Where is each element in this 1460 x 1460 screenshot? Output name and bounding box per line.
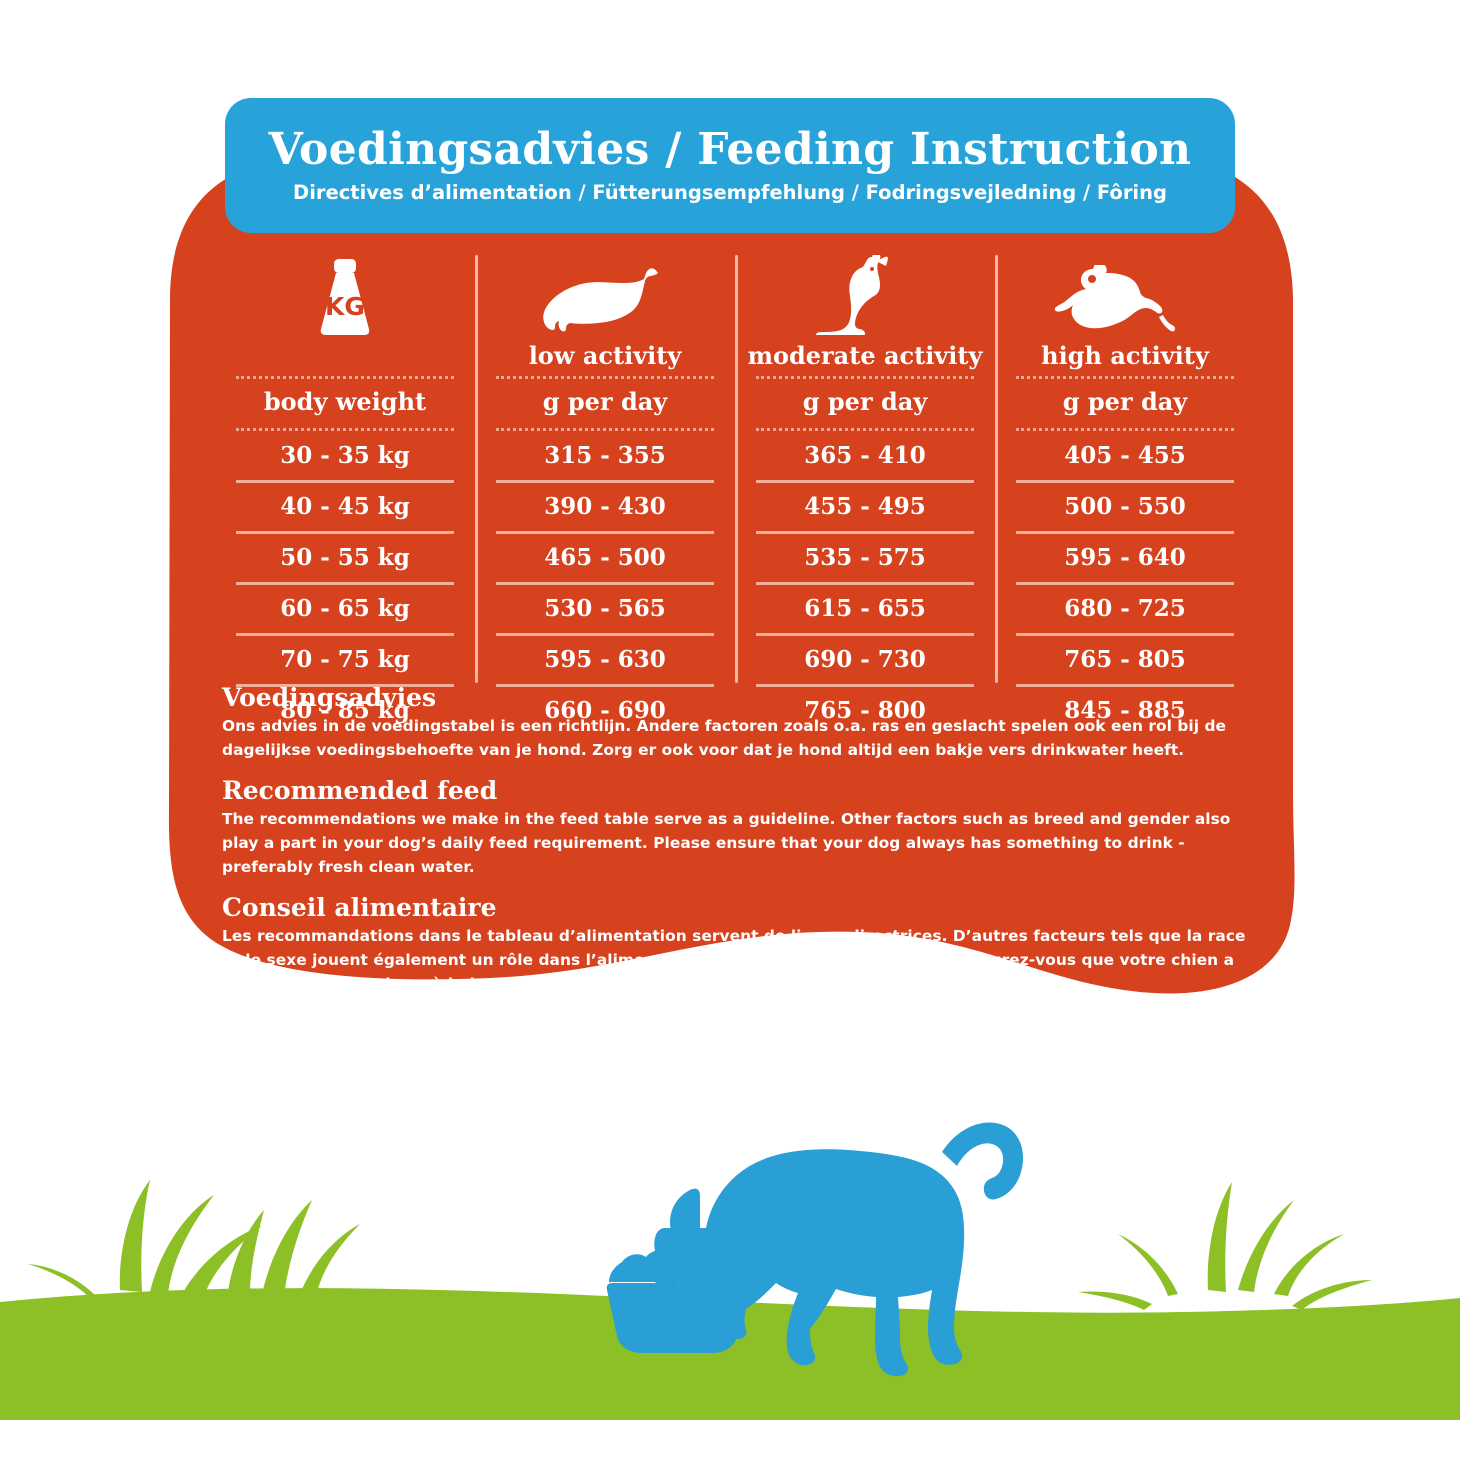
table-cell: 60 - 65 kg [236,582,454,633]
column-unit-label: g per day [543,379,667,423]
grass-tuft-right [1078,1182,1372,1310]
note-heading-fr: Conseil alimentaire [222,893,1252,922]
table-cell: 500 - 550 [1016,480,1234,531]
table-cell: 315 - 355 [496,431,714,480]
column-unit-label: g per day [803,379,927,423]
table-column-low-activity: low activity g per day 315 - 355 390 - 4… [475,255,735,675]
table-cell: 70 - 75 kg [236,633,454,684]
table-cell: 40 - 45 kg [236,480,454,531]
table-cell: 680 - 725 [1016,582,1234,633]
table-cell: 535 - 575 [756,531,974,582]
table-cell: 765 - 805 [1016,633,1234,684]
dog-sitting-icon [810,255,920,335]
note-body-nl: Ons advies in de voedingstabel is een ri… [222,714,1252,763]
table-cell: 615 - 655 [756,582,974,633]
dog-running-icon [1055,255,1195,335]
dog-lying-icon [540,255,670,335]
table-cell: 50 - 55 kg [236,531,454,582]
column-activity-label: moderate activity [748,341,983,371]
page-subtitle: Directives d’alimentation / Fütterungsem… [293,181,1167,204]
page-title: Voedingsadvies / Feeding Instruction [269,128,1192,172]
svg-text:KG: KG [325,292,365,321]
table-cell: 465 - 500 [496,531,714,582]
column-unit-label: body weight [264,379,426,423]
kg-weight-icon: KG [312,255,378,335]
column-unit-label: g per day [1063,379,1187,423]
table-column-moderate-activity: moderate activity g per day 365 - 410 45… [735,255,995,675]
table-cell: 405 - 455 [1016,431,1234,480]
note-heading-en: Recommended feed [222,776,1252,805]
bottom-illustration [0,1040,1460,1460]
table-cell: 595 - 630 [496,633,714,684]
table-cell: 530 - 565 [496,582,714,633]
table-cell: 455 - 495 [756,480,974,531]
table-cell: 595 - 640 [1016,531,1234,582]
column-activity-label: high activity [1041,341,1209,371]
feeding-table: KG body weight 30 - 35 kg 40 - 45 kg 50 … [215,255,1255,675]
table-column-body-weight: KG body weight 30 - 35 kg 40 - 45 kg 50 … [215,255,475,675]
column-activity-label: low activity [529,341,682,371]
table-cell: 390 - 430 [496,480,714,531]
note-heading-nl: Voedingsadvies [222,683,1252,712]
table-cell: 365 - 410 [756,431,974,480]
notes-section: Voedingsadvies Ons advies in de voedings… [222,683,1252,997]
table-cell: 690 - 730 [756,633,974,684]
note-body-en: The recommendations we make in the feed … [222,807,1252,880]
header-tab: Voedingsadvies / Feeding Instruction Dir… [225,98,1235,233]
table-column-high-activity: high activity g per day 405 - 455 500 - … [995,255,1255,675]
table-cell: 30 - 35 kg [236,431,454,480]
note-body-fr: Les recommandations dans le tableau d’al… [222,924,1252,997]
grass-tuft-left [28,1180,360,1298]
